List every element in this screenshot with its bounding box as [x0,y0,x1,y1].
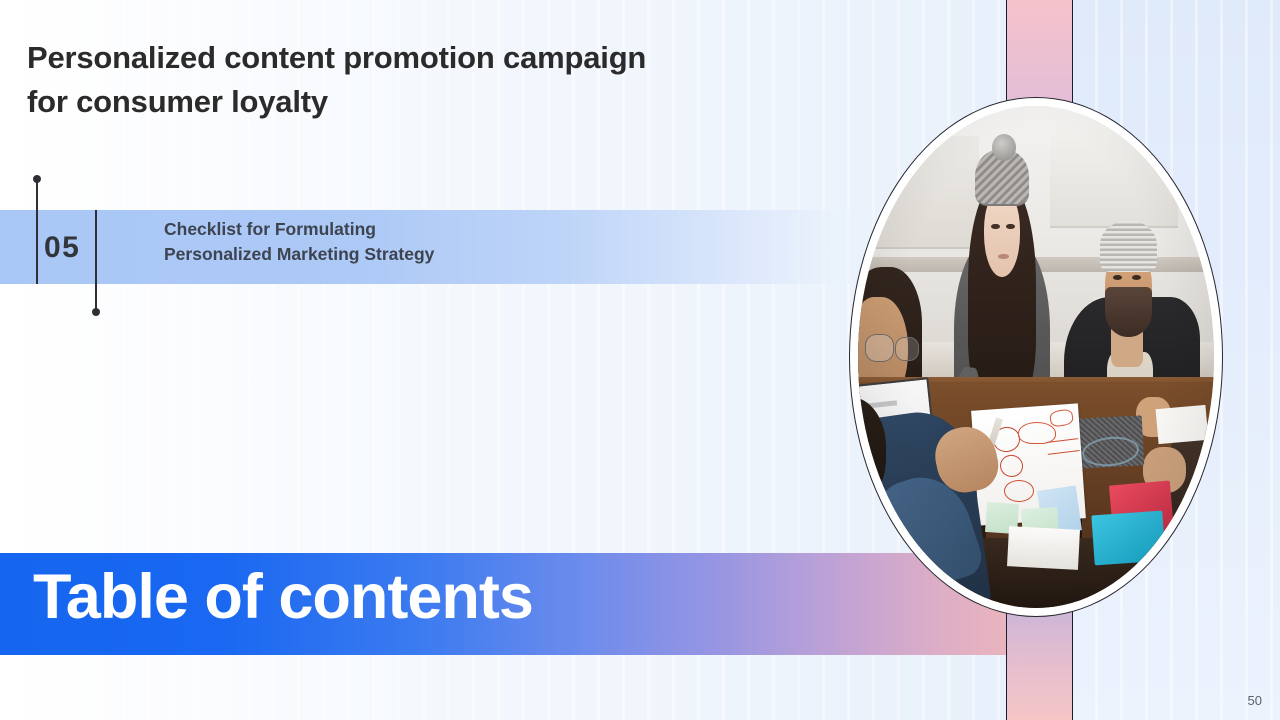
page-number: 50 [1248,693,1262,708]
toc-left-marker-line [36,178,38,284]
page-title: Personalized content promotion campaign … [27,36,807,124]
slide-canvas: Personalized content promotion campaign … [0,0,1280,720]
toc-item-label[interactable]: Checklist for Formulating Personalized M… [164,217,784,267]
toc-item-number[interactable]: 05 [44,231,80,265]
banner-title: Table of contents [33,566,533,629]
oval-photo-frame [849,97,1223,617]
toc-right-marker-dot-icon [92,308,100,316]
toc-left-marker-dot-icon [33,175,41,183]
team-meeting-photo [858,106,1214,608]
toc-right-marker-line [95,210,97,313]
